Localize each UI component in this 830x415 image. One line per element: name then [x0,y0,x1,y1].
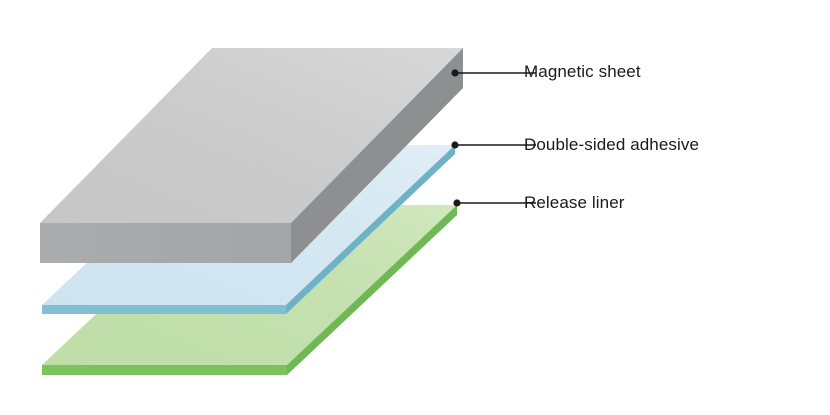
callout-label-double-sided-adhesive: Double-sided adhesive [524,136,699,153]
callout-label-release-liner: Release liner [524,194,625,211]
leader-dot-magnetic-sheet [451,69,458,76]
layer-stack-illustration [0,0,830,415]
leader-dot-double-sided-adhesive [451,141,458,148]
magnetic-sheet-front-face [40,223,291,263]
release-liner-front-face [42,365,287,375]
callout-label-magnetic-sheet: Magnetic sheet [524,63,641,80]
leader-dot-release-liner [453,199,460,206]
diagram-canvas: Magnetic sheet Double-sided adhesive Rel… [0,0,830,415]
double-sided-adhesive-front-face [42,305,286,314]
